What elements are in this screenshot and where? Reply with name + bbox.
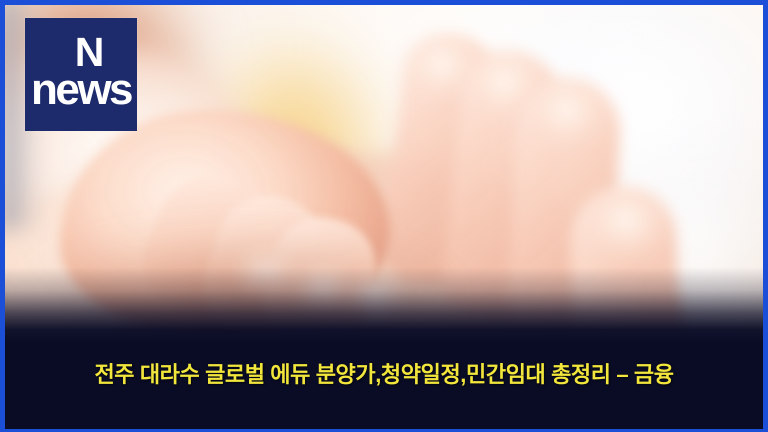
photo-hand-crease-shadow xyxy=(30,236,450,356)
nnews-logo: N news xyxy=(25,18,137,131)
photo-adult-fingertip-3 xyxy=(520,78,612,158)
headline-caption: 전주 대라수 글로벌 에듀 분양가,청약일정,민간임대 총정리 – 금융 xyxy=(0,361,768,389)
photo-adult-fingertip-4 xyxy=(578,188,674,268)
news-thumbnail-card: N news 전주 대라수 글로벌 에듀 분양가,청약일정,민간임대 총정리 –… xyxy=(0,0,768,432)
logo-line-news: news xyxy=(25,68,137,112)
